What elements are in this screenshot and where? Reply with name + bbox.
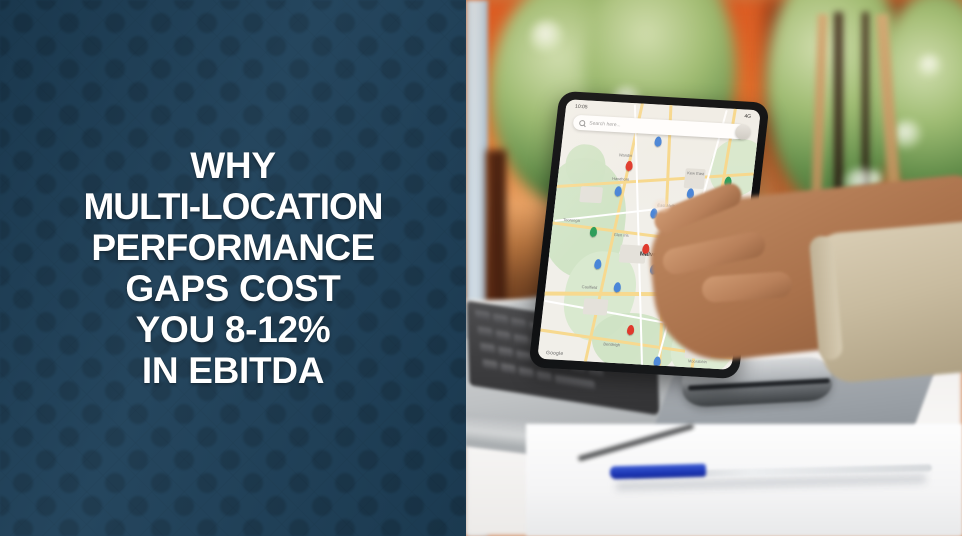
- map-marker-red[interactable]: [625, 161, 633, 171]
- headline-line-3: PERFORMANCE: [91, 227, 374, 268]
- status-time: 10:05: [575, 103, 588, 110]
- headline-line-5: YOU 8-12%: [136, 309, 331, 350]
- search-icon: [579, 119, 586, 125]
- headline-line-4: GAPS COST: [125, 268, 340, 309]
- bokeh-highlight: [918, 54, 942, 78]
- status-indicators: 4G: [744, 113, 751, 119]
- map-block: [583, 298, 609, 315]
- headline-line-1: WHY: [190, 145, 275, 186]
- map-street-label: Hawthorn: [612, 176, 630, 182]
- hand-tablet-map-photo: Wandin Hawthorn Kew East East Melbourne …: [466, 0, 962, 536]
- page-title: WHY MULTI-LOCATION PERFORMANCE GAPS COST…: [0, 0, 466, 536]
- headline-panel: WHY MULTI-LOCATION PERFORMANCE GAPS COST…: [0, 0, 466, 536]
- map-street-label: Kew East: [687, 170, 704, 176]
- map-street-label: Caulfield: [581, 284, 597, 290]
- map-street-label: Bentleigh: [603, 341, 620, 347]
- pen-cap: [610, 464, 706, 480]
- map-attribution: Google: [546, 350, 564, 357]
- map-street-label: Wandin: [619, 152, 633, 158]
- headline-line-6: IN EBITDA: [142, 350, 324, 391]
- map-street-label: Moorabbin: [688, 358, 707, 364]
- map-block: [579, 186, 603, 203]
- search-placeholder: Search here...: [589, 120, 621, 128]
- fingernail: [654, 200, 670, 212]
- map-marker-blue[interactable]: [654, 136, 662, 146]
- banner-canvas: WHY MULTI-LOCATION PERFORMANCE GAPS COST…: [0, 0, 962, 536]
- stand-leg: [834, 12, 843, 212]
- map-street-label: Tooronga: [563, 217, 580, 223]
- map-street-label: Glen Iris: [614, 232, 629, 238]
- headline-line-2: MULTI-LOCATION: [83, 186, 382, 227]
- bokeh-highlight: [530, 20, 564, 54]
